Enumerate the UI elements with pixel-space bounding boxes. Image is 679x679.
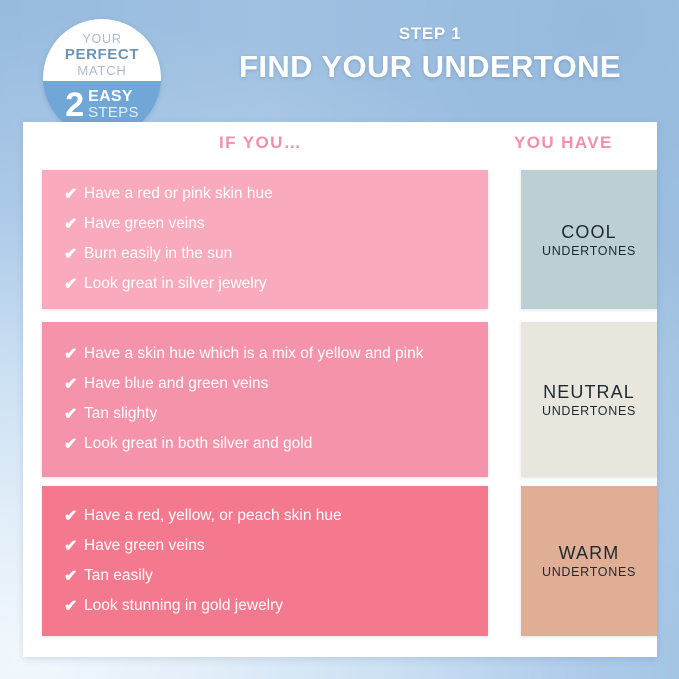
badge-easy-steps: EASY STEPS <box>88 86 139 121</box>
checkmark-icon: ✔ <box>54 536 84 557</box>
criteria-label: Have a red or pink skin hue <box>84 184 273 204</box>
header: STEP 1 FIND YOUR UNDERTONE <box>200 24 660 85</box>
badge-step-count: 2 <box>65 86 84 124</box>
undertone-name: NEUTRAL <box>543 381 635 403</box>
step-label: STEP 1 <box>200 24 660 44</box>
undertone-row: ✔Have a red, yellow, or peach skin hue✔H… <box>42 486 657 636</box>
criteria-item: ✔Look stunning in gold jewelry <box>54 596 472 617</box>
criteria-label: Look great in silver jewelry <box>84 274 267 294</box>
criteria-item: ✔Tan slighty <box>54 404 472 425</box>
criteria-label: Burn easily in the sun <box>84 244 232 264</box>
undertone-sublabel: UNDERTONES <box>542 243 636 259</box>
criteria-item: ✔Have a skin hue which is a mix of yello… <box>54 344 472 365</box>
undertone-row: ✔Have a skin hue which is a mix of yello… <box>42 322 657 477</box>
column-headers: IF YOU… YOU HAVE <box>23 133 657 161</box>
badge-top-half: YOUR PERFECT MATCH <box>43 19 161 81</box>
criteria-panel: ✔Have a red or pink skin hue✔Have green … <box>42 170 488 309</box>
page-title: FIND YOUR UNDERTONE <box>200 49 660 85</box>
criteria-panel: ✔Have a red, yellow, or peach skin hue✔H… <box>42 486 488 636</box>
checkmark-icon: ✔ <box>54 404 84 425</box>
criteria-panel: ✔Have a skin hue which is a mix of yello… <box>42 322 488 477</box>
undertone-row: ✔Have a red or pink skin hue✔Have green … <box>42 170 657 309</box>
column-header-criteria: IF YOU… <box>219 133 302 153</box>
criteria-label: Have green veins <box>84 536 205 556</box>
criteria-item: ✔Have green veins <box>54 536 472 557</box>
undertone-swatch: COOLUNDERTONES <box>521 170 657 309</box>
badge-line-match: MATCH <box>77 63 126 78</box>
criteria-label: Have a skin hue which is a mix of yellow… <box>84 344 423 364</box>
criteria-item: ✔Have a red, yellow, or peach skin hue <box>54 506 472 527</box>
checkmark-icon: ✔ <box>54 244 84 265</box>
checkmark-icon: ✔ <box>54 374 84 395</box>
criteria-label: Look great in both silver and gold <box>84 434 312 454</box>
infographic-canvas: STEP 1 FIND YOUR UNDERTONE YOUR PERFECT … <box>0 0 679 679</box>
criteria-label: Have a red, yellow, or peach skin hue <box>84 506 342 526</box>
criteria-item: ✔Look great in silver jewelry <box>54 274 472 295</box>
criteria-label: Tan easily <box>84 566 153 586</box>
checkmark-icon: ✔ <box>54 214 84 235</box>
undertone-name: COOL <box>561 221 616 243</box>
undertone-name: WARM <box>559 542 620 564</box>
criteria-item: ✔Have blue and green veins <box>54 374 472 395</box>
criteria-item: ✔Tan easily <box>54 566 472 587</box>
column-header-result: YOU HAVE <box>514 133 613 153</box>
undertone-swatch: NEUTRALUNDERTONES <box>521 322 657 477</box>
checkmark-icon: ✔ <box>54 434 84 455</box>
checkmark-icon: ✔ <box>54 596 84 617</box>
undertone-swatch: WARMUNDERTONES <box>521 486 657 636</box>
badge-line-perfect: PERFECT <box>65 46 139 63</box>
undertone-sublabel: UNDERTONES <box>542 403 636 419</box>
perfect-match-badge: YOUR PERFECT MATCH 2 EASY STEPS <box>43 19 161 137</box>
badge-line-your: YOUR <box>82 32 121 46</box>
checkmark-icon: ✔ <box>54 506 84 527</box>
criteria-label: Have green veins <box>84 214 205 234</box>
criteria-label: Tan slighty <box>84 404 157 424</box>
undertone-sublabel: UNDERTONES <box>542 564 636 580</box>
criteria-label: Have blue and green veins <box>84 374 268 394</box>
badge-label-steps: STEPS <box>88 105 139 121</box>
checkmark-icon: ✔ <box>54 184 84 205</box>
criteria-label: Look stunning in gold jewelry <box>84 596 283 616</box>
checkmark-icon: ✔ <box>54 566 84 587</box>
criteria-item: ✔Look great in both silver and gold <box>54 434 472 455</box>
checkmark-icon: ✔ <box>54 344 84 365</box>
checkmark-icon: ✔ <box>54 274 84 295</box>
criteria-item: ✔Have a red or pink skin hue <box>54 184 472 205</box>
criteria-item: ✔Have green veins <box>54 214 472 235</box>
badge-label-easy: EASY <box>88 88 139 105</box>
criteria-item: ✔Burn easily in the sun <box>54 244 472 265</box>
undertone-card: IF YOU… YOU HAVE ✔Have a red or pink ski… <box>23 122 657 657</box>
